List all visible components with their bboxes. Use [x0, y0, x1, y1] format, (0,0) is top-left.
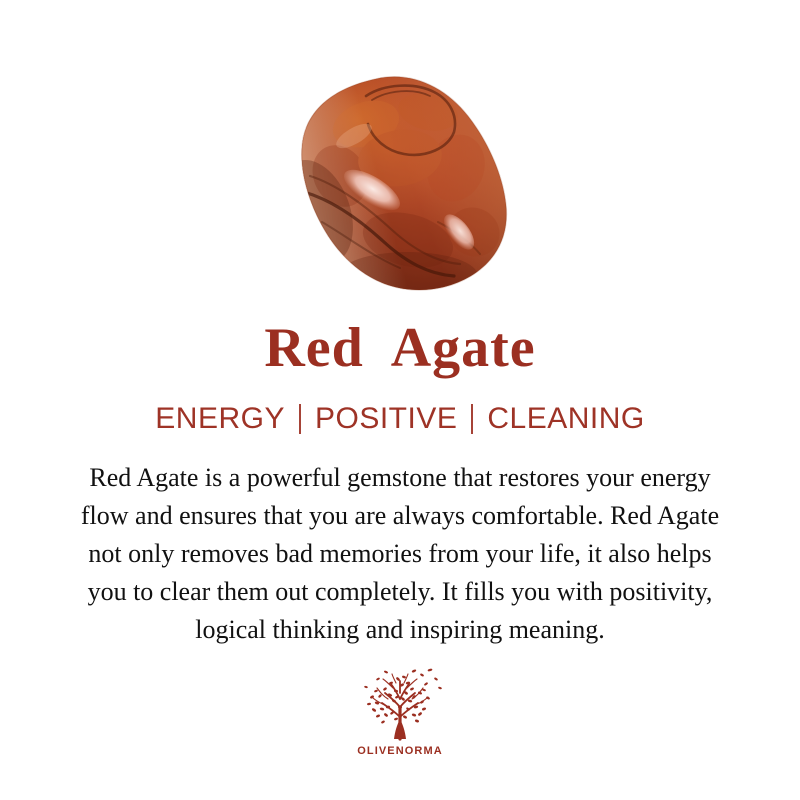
tree-icon — [352, 663, 448, 743]
description-line: not only removes bad memories from your … — [15, 535, 785, 573]
attribute-positive: POSITIVE — [301, 402, 471, 435]
description-line: you to clear them out completely. It fil… — [15, 573, 785, 611]
red-agate-stone-illustration — [288, 72, 520, 294]
product-description: Red Agate is a powerful gemstone that re… — [15, 459, 785, 649]
attribute-list: ENERGY POSITIVE CLEANING — [141, 402, 658, 435]
description-line: logical thinking and inspiring meaning. — [15, 611, 785, 649]
brand-name: OLIVENORMA — [357, 745, 443, 757]
attribute-cleaning: CLEANING — [473, 402, 658, 435]
gemstone-image — [288, 72, 520, 294]
description-line: flow and ensures that you are always com… — [15, 497, 785, 535]
attribute-separator-2 — [471, 404, 473, 434]
gemstone-image-area — [0, 0, 800, 320]
attribute-energy: ENERGY — [141, 402, 299, 435]
description-line: Red Agate is a powerful gemstone that re… — [15, 459, 785, 497]
page-title: Red Agate — [264, 320, 535, 376]
brand-logo: OLIVENORMA — [352, 663, 448, 757]
product-info-card: Red Agate ENERGY POSITIVE CLEANING Red A… — [0, 0, 800, 800]
floating-leaves-icon — [364, 668, 442, 689]
attribute-separator-1 — [299, 404, 301, 434]
stone-body — [288, 72, 520, 294]
